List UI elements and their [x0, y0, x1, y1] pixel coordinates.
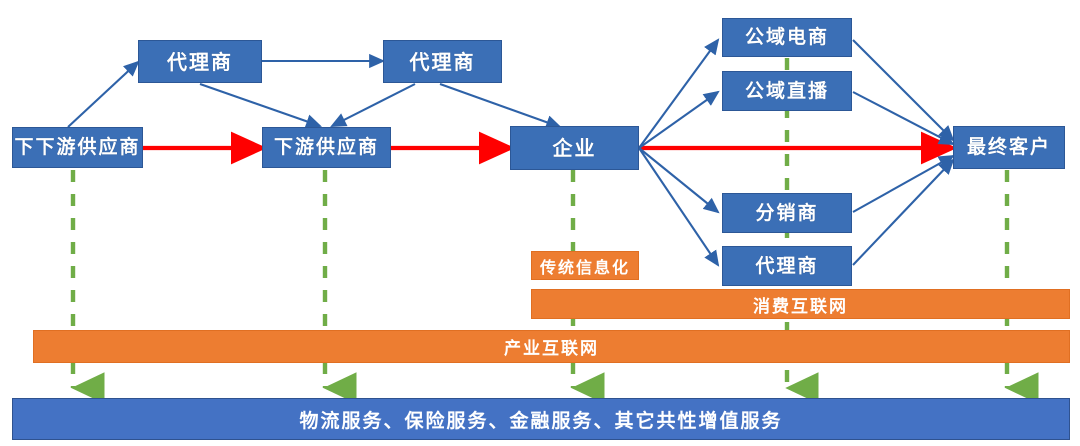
node-final-customer-label: 最终客户 [967, 138, 1051, 157]
node-distributor-label: 分销商 [755, 204, 818, 223]
node-distributor[interactable]: 分销商 [722, 193, 852, 233]
blue-channel-fanout-arrows [639, 40, 718, 265]
node-public-ecommerce[interactable]: 公域电商 [722, 18, 852, 57]
bar-common-services[interactable]: 物流服务、保险服务、金融服务、其它共性增值服务 [12, 398, 1070, 440]
node-agent-left-label: 代理商 [167, 52, 233, 72]
node-enterprise[interactable]: 企业 [510, 126, 639, 170]
node-agent-mid[interactable]: 代理商 [383, 40, 502, 83]
node-public-livestream[interactable]: 公域直播 [722, 71, 852, 111]
bar-common-services-label: 物流服务、保险服务、金融服务、其它共性增值服务 [299, 406, 782, 433]
bar-industrial-internet-label: 产业互联网 [504, 334, 599, 359]
diagram-canvas: 下下游供应商 代理商 代理商 下游供应商 企业 公域电商 公域直播 分销商 代理… [0, 0, 1080, 446]
bar-industrial-internet[interactable]: 产业互联网 [33, 330, 1070, 363]
node-upstream-supplier[interactable]: 下下游供应商 [12, 127, 143, 168]
node-agent-channel-label: 代理商 [755, 257, 818, 276]
bar-consumer-internet-label: 消费互联网 [753, 292, 848, 317]
node-public-livestream-label: 公域直播 [745, 82, 829, 101]
node-downstream-supplier-label: 下游供应商 [274, 138, 379, 157]
node-final-customer[interactable]: 最终客户 [953, 126, 1065, 169]
bar-traditional-it-label: 传统信息化 [540, 254, 630, 278]
node-agent-mid-label: 代理商 [410, 52, 476, 72]
node-downstream-supplier[interactable]: 下游供应商 [262, 127, 391, 168]
bar-traditional-it[interactable]: 传统信息化 [531, 251, 639, 280]
node-agent-channel[interactable]: 代理商 [722, 246, 852, 286]
bar-consumer-internet[interactable]: 消费互联网 [531, 289, 1070, 319]
node-enterprise-label: 企业 [553, 138, 597, 158]
node-public-ecommerce-label: 公域电商 [745, 28, 829, 47]
node-agent-left[interactable]: 代理商 [138, 40, 262, 83]
node-upstream-supplier-label: 下下游供应商 [14, 138, 140, 157]
blue-channel-converge-arrows [853, 40, 953, 265]
